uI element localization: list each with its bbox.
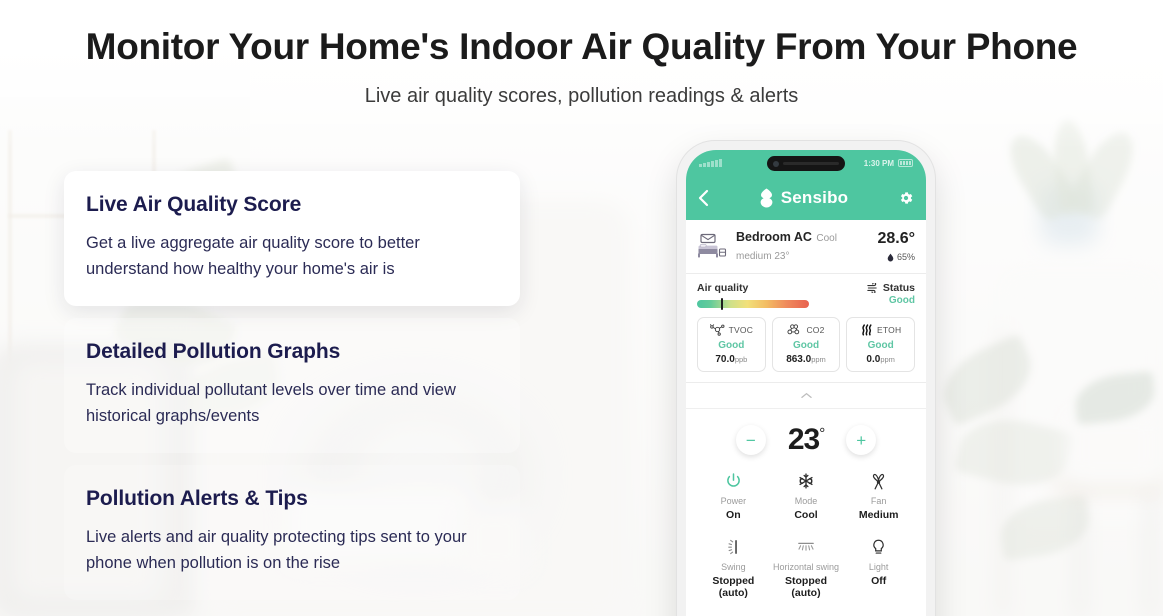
feature-card-live-air-quality-score[interactable]: Live Air Quality Score Get a live aggreg… [64,171,520,306]
air-quality-tile-etoh[interactable]: ETOH Good 0.0ppm [846,317,915,372]
chevron-up-icon [801,391,812,402]
air-quality-tile-status: Good [701,340,762,351]
air-quality-tile-list: TVOC Good 70.0ppb [697,317,915,372]
controls-collapse-toggle[interactable] [686,609,926,616]
air-quality-section: Air quality [686,274,926,383]
battery-icon [898,159,913,167]
secondary-controls-row: Swing Stopped (auto) Horizontal swing [697,537,915,599]
control-value: Off [842,575,915,587]
control-power[interactable]: Power On [697,471,770,521]
control-mode[interactable]: Mode Cool [770,471,843,521]
feature-card-title: Pollution Alerts & Tips [86,487,498,511]
control-label: Horizontal swing [770,562,843,572]
page-title: Monitor Your Home's Indoor Air Quality F… [0,26,1163,69]
control-label: Swing [697,562,770,572]
air-quality-collapse-toggle[interactable] [686,383,926,409]
page-subtitle: Live air quality scores, pollution readi… [0,85,1163,108]
back-chevron-icon[interactable] [698,189,709,207]
device-name: Bedroom AC [736,230,812,244]
feature-card-description: Track individual pollutant levels over t… [86,378,498,429]
signal-bars-icon [699,159,722,167]
fan-icon [842,471,915,491]
air-quality-tile-status: Good [776,340,837,351]
bedroom-bed-icon [697,233,727,259]
temperature-value: 23 [788,423,819,456]
control-label: Power [697,496,770,506]
air-quality-tile-tvoc[interactable]: TVOC Good 70.0ppb [697,317,766,372]
page-root: Monitor Your Home's Indoor Air Quality F… [0,0,1163,616]
air-quality-tile-value: 70.0 [715,354,734,365]
control-horizontal-swing[interactable]: Horizontal swing Stopped (auto) [770,537,843,599]
phone-frame: 1:30 PM Sensibo [677,141,935,616]
app-title: Sensibo [781,188,849,208]
temperature-control-section: − 23° + [686,409,926,609]
air-quality-tile-value: 0.0 [866,354,880,365]
air-quality-gradient-bar [697,300,809,308]
app-header: Sensibo [686,176,926,220]
feature-card-list: Live Air Quality Score Get a live aggreg… [64,171,520,612]
control-value: Cool [770,509,843,521]
control-fan[interactable]: Fan Medium [842,471,915,521]
phone-mockup: 1:30 PM Sensibo [677,141,935,616]
feature-card-title: Live Air Quality Score [86,193,498,217]
air-quality-status-value: Good [867,295,915,306]
status-bar-time: 1:30 PM [864,159,894,168]
air-quality-tile-name: ETOH [877,325,901,335]
power-icon [697,471,770,491]
control-value: On [697,509,770,521]
air-quality-tile-name: CO2 [806,325,824,335]
feature-card-description: Get a live aggregate air quality score t… [86,231,498,282]
temperature-decrease-button[interactable]: − [736,425,766,455]
temperature-increase-button[interactable]: + [846,425,876,455]
control-value: Stopped (auto) [770,575,843,599]
co2-molecule-icon [787,323,802,336]
air-quality-tile-co2[interactable]: CO2 Good 863.0ppm [772,317,841,372]
feature-card-description: Live alerts and air quality protecting t… [86,525,498,576]
light-bulb-icon [842,537,915,557]
control-swing[interactable]: Swing Stopped (auto) [697,537,770,599]
wind-icon [867,283,879,293]
air-quality-tile-unit: ppm [811,355,826,364]
device-humidity: 65% [897,252,915,262]
horizontal-swing-icon [770,537,843,557]
control-value: Stopped (auto) [697,575,770,599]
phone-status-bar: 1:30 PM [686,150,926,176]
air-quality-marker [721,298,723,310]
control-light[interactable]: Light Off [842,537,915,599]
snowflake-icon [770,471,843,491]
sensibo-logo-icon [759,188,774,208]
feature-card-detailed-pollution-graphs[interactable]: Detailed Pollution Graphs Track individu… [64,318,520,453]
primary-controls-row: Power On [697,471,915,521]
temperature-degree-symbol: ° [819,425,824,442]
control-label: Light [842,562,915,572]
gear-icon[interactable] [898,190,914,206]
air-quality-tile-unit: ppm [880,355,895,364]
hero-heading-block: Monitor Your Home's Indoor Air Quality F… [0,26,1163,108]
control-label: Fan [842,496,915,506]
air-quality-label: Air quality [697,282,809,294]
app-title-group: Sensibo [759,188,849,208]
vertical-swing-icon [697,537,770,557]
tvoc-molecule-icon [710,323,725,336]
etoh-waves-icon [860,323,873,336]
humidity-drop-icon [887,253,894,262]
phone-screen: 1:30 PM Sensibo [686,150,926,616]
air-quality-tile-unit: ppb [735,355,748,364]
device-row[interactable]: Bedroom AC Cool medium 23° 28.6° 65% [686,220,926,274]
air-quality-tile-status: Good [850,340,911,351]
control-value: Medium [842,509,915,521]
front-camera-icon [773,161,779,167]
air-quality-tile-name: TVOC [729,325,753,335]
device-temperature: 28.6° [877,230,915,247]
dynamic-island [767,156,845,171]
control-label: Mode [770,496,843,506]
feature-card-pollution-alerts-tips[interactable]: Pollution Alerts & Tips Live alerts and … [64,465,520,600]
air-quality-tile-value: 863.0 [786,354,811,365]
feature-card-title: Detailed Pollution Graphs [86,340,498,364]
air-quality-status-label: Status [883,282,915,294]
